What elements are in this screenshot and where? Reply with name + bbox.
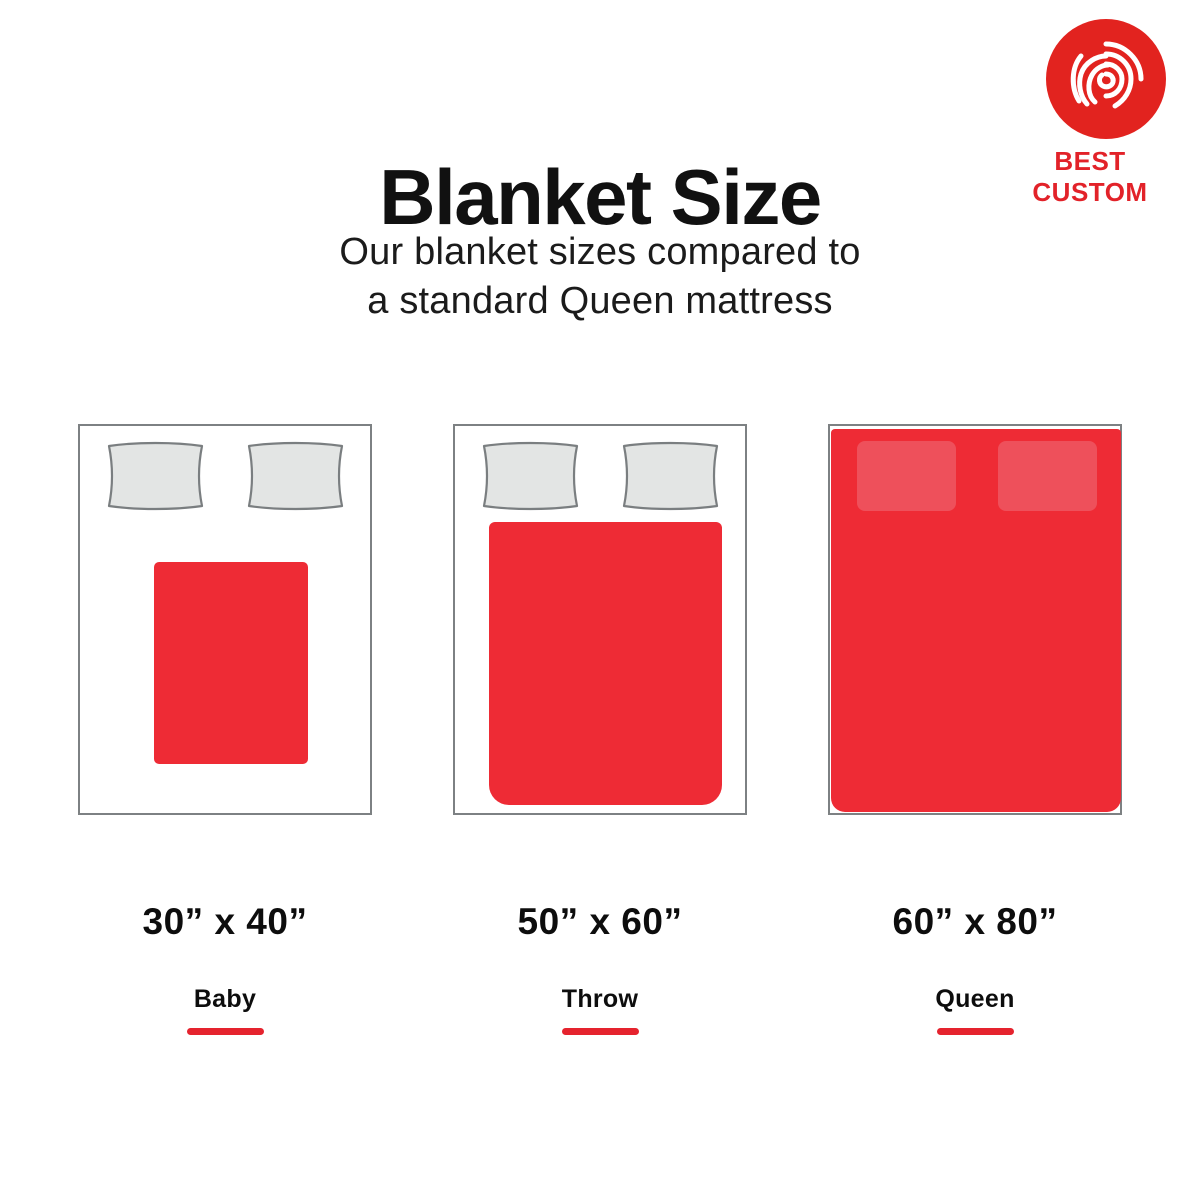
- bed-diagram-queen: [828, 424, 1122, 815]
- size-label: Throw: [435, 985, 765, 1013]
- mattress-outline: [453, 424, 747, 815]
- blanket-swatch-baby: [154, 562, 308, 764]
- mattress-outline: [78, 424, 372, 815]
- pillow-icon: [106, 442, 205, 510]
- caption-baby: 30” x 40” Baby: [60, 900, 390, 1035]
- size-dimensions: 30” x 40”: [60, 900, 390, 944]
- blanket-swatch-throw: [489, 522, 722, 805]
- page-subtitle-line-2: a standard Queen mattress: [0, 277, 1200, 326]
- blanket-swatch-queen: [831, 429, 1121, 812]
- accent-rule: [187, 1028, 264, 1035]
- caption-throw: 50” x 60” Throw: [435, 900, 765, 1035]
- accent-rule: [562, 1028, 639, 1035]
- pillow-icon: [246, 442, 345, 510]
- accent-rule: [937, 1028, 1014, 1035]
- bed-diagram-baby: [78, 424, 372, 815]
- pillow-icon: [857, 441, 956, 511]
- mattress-outline: [828, 424, 1122, 815]
- pillow-icon: [481, 442, 580, 510]
- bed-diagram-throw: [453, 424, 747, 815]
- pillow-icon: [998, 441, 1097, 511]
- size-label: Queen: [810, 985, 1140, 1013]
- size-label: Baby: [60, 985, 390, 1013]
- fingerprint-icon: [1045, 18, 1167, 140]
- size-dimensions: 60” x 80”: [810, 900, 1140, 944]
- pillow-icon: [621, 442, 720, 510]
- caption-queen: 60” x 80” Queen: [810, 900, 1140, 1035]
- size-dimensions: 50” x 60”: [435, 900, 765, 944]
- page-subtitle-line-1: Our blanket sizes compared to: [0, 228, 1200, 277]
- page-subtitle: Our blanket sizes compared to a standard…: [0, 228, 1200, 326]
